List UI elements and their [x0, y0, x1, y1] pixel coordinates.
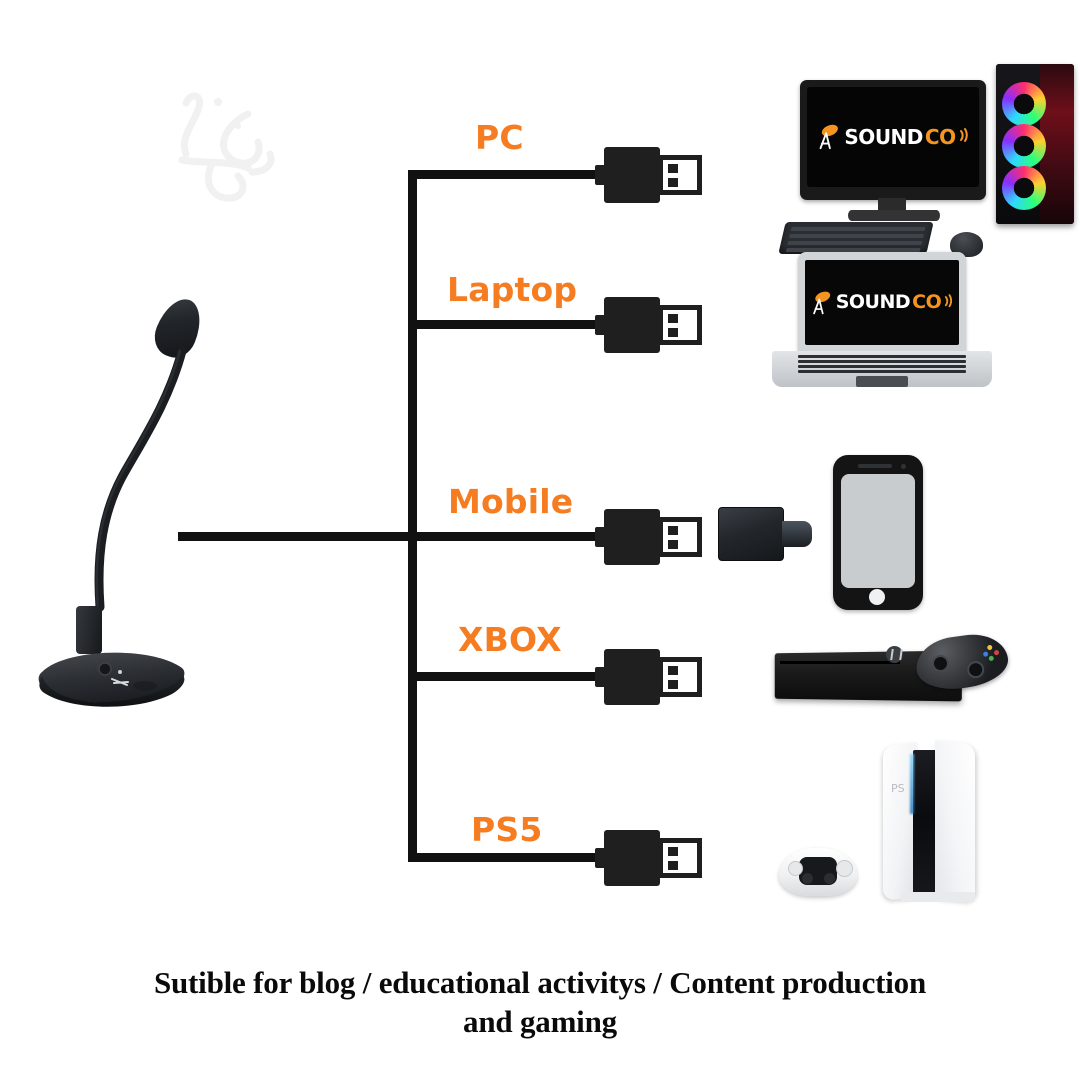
wire-branch-mobile [412, 532, 608, 541]
sound-wave-icon [958, 127, 972, 147]
usb-metal-tip [658, 838, 702, 878]
controller-stick [966, 660, 985, 679]
diagram-canvas: PC Laptop Mobile XBOX PS5 [0, 0, 1080, 1080]
usb-pin [668, 164, 678, 173]
usb-a-connector-ps5 [604, 830, 704, 886]
microphone-icon [814, 123, 842, 151]
branch-label-laptop: Laptop [447, 270, 577, 309]
logo-word-primary: SOUND [836, 293, 910, 312]
gooseneck-desktop-microphone [28, 290, 268, 720]
wire-branch-xbox [412, 672, 608, 681]
usb-a-connector-mobile [604, 509, 704, 565]
wire-branch-laptop [412, 320, 608, 329]
usb-c-otg-adapter [718, 507, 814, 561]
logo-word-accent: CO [912, 293, 941, 312]
wire-branch-pc [412, 170, 608, 179]
playstation-5-console: PS [775, 740, 1015, 910]
controller-face-buttons [836, 860, 853, 877]
phone-home-button [869, 589, 885, 605]
dualsense-controller [779, 848, 857, 896]
usb-shell [604, 147, 660, 203]
controller-stick [824, 873, 835, 884]
ps5-right-panel [935, 740, 975, 902]
branch-label-xbox: XBOX [458, 620, 562, 659]
controller-face-buttons [982, 644, 1000, 662]
laptop-trackpad [856, 376, 908, 387]
desktop-computer: SOUND CO [782, 58, 1080, 226]
usb-c-plug [782, 521, 812, 547]
usb-pin [668, 178, 678, 187]
controller-stick [802, 873, 813, 884]
monitor-screen: SOUND CO [807, 87, 979, 187]
otg-body [718, 507, 784, 561]
monitor: SOUND CO [800, 80, 986, 200]
branch-label-mobile: Mobile [448, 482, 573, 521]
usb-a-connector-pc [604, 147, 704, 203]
sound-wave-icon [943, 293, 956, 312]
usb-pin [668, 861, 678, 870]
laptop-computer: SOUND CO [772, 252, 992, 402]
soundco-logo: SOUND CO [808, 290, 957, 316]
soundco-logo: SOUND CO [814, 123, 971, 151]
laptop-keyboard [798, 355, 966, 375]
usb-a-connector-xbox [604, 649, 704, 705]
smartphone [833, 455, 923, 610]
wire-vertical-trunk [408, 170, 417, 862]
phone-earpiece [858, 464, 892, 468]
rgb-fan-icon [1002, 82, 1046, 126]
playstation-logo-icon: PS [891, 782, 905, 795]
logo-word-primary: SOUND [844, 127, 923, 147]
persian-calligraphy-watermark [152, 68, 298, 216]
usb-metal-tip [658, 517, 702, 557]
xbox-disc-slot [780, 661, 900, 664]
usb-pin [668, 847, 678, 856]
caption-line-1: Sutible for blog / educational activitys… [0, 963, 1080, 1002]
branch-label-ps5: PS5 [471, 810, 543, 849]
xbox-logo-icon [886, 646, 903, 663]
microphone-icon [808, 290, 834, 316]
microphone-base [32, 642, 192, 714]
usb-shell [604, 649, 660, 705]
usb-metal-tip [658, 305, 702, 345]
usb-shell [604, 509, 660, 565]
branch-label-pc: PC [475, 118, 524, 157]
usb-shell [604, 297, 660, 353]
wire-branch-ps5 [412, 853, 608, 862]
logo-word-accent: CO [925, 127, 956, 147]
keyboard [778, 222, 933, 254]
xbox-console [768, 630, 1008, 722]
usb-a-connector-laptop [604, 297, 704, 353]
usb-pin [668, 328, 678, 337]
usb-metal-tip [658, 657, 702, 697]
rgb-fan-icon [1002, 166, 1046, 210]
usb-pin [668, 540, 678, 549]
phone-front-camera-icon [901, 464, 906, 469]
controller-stick [931, 654, 950, 673]
usb-pin [668, 314, 678, 323]
phone-screen [841, 474, 915, 588]
usb-shell [604, 830, 660, 886]
laptop-lid: SOUND CO [798, 252, 966, 352]
usb-pin [668, 680, 678, 689]
laptop-screen: SOUND CO [805, 260, 959, 345]
controller-dpad [788, 861, 803, 876]
caption-line-2: and gaming [0, 1002, 1080, 1041]
ps5-stand [901, 892, 975, 902]
usb-pin [668, 526, 678, 535]
rgb-fan-icon [1002, 124, 1046, 168]
pc-tower [996, 64, 1074, 224]
usb-pin [668, 666, 678, 675]
monitor-stand-base [848, 210, 940, 221]
caption: Sutible for blog / educational activitys… [0, 963, 1080, 1041]
microphone-gooseneck [72, 345, 192, 615]
usb-metal-tip [658, 155, 702, 195]
